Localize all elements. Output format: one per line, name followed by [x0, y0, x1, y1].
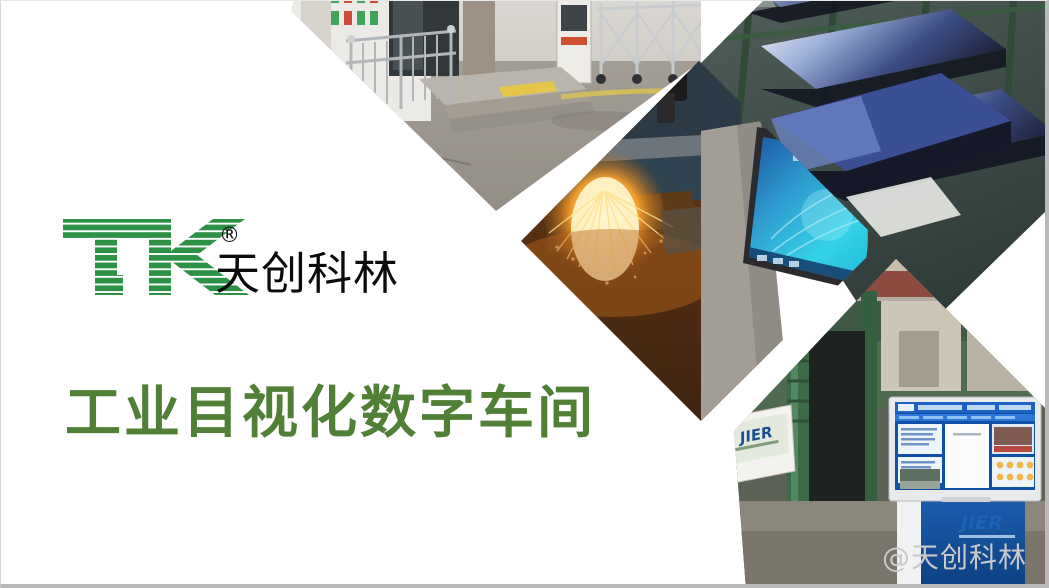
collage-photo-operator-monitor	[701, 121, 891, 421]
watermark: @天创科林	[882, 536, 1027, 576]
svg-text:JIER: JIER	[735, 423, 774, 448]
collage-photo-panel-workshop	[691, 1, 1049, 371]
company-logo: ® 天创科林	[63, 217, 383, 317]
presentation-slide: JIER JIER	[0, 0, 1049, 588]
svg-text:JIER: JIER	[957, 512, 1003, 534]
company-name-cn: 天创科林	[215, 251, 399, 296]
slide-title: 工业目视化数字车间	[65, 385, 596, 444]
registered-trademark-icon: ®	[219, 225, 240, 246]
collage-photo-flame-cutting	[501, 51, 741, 431]
